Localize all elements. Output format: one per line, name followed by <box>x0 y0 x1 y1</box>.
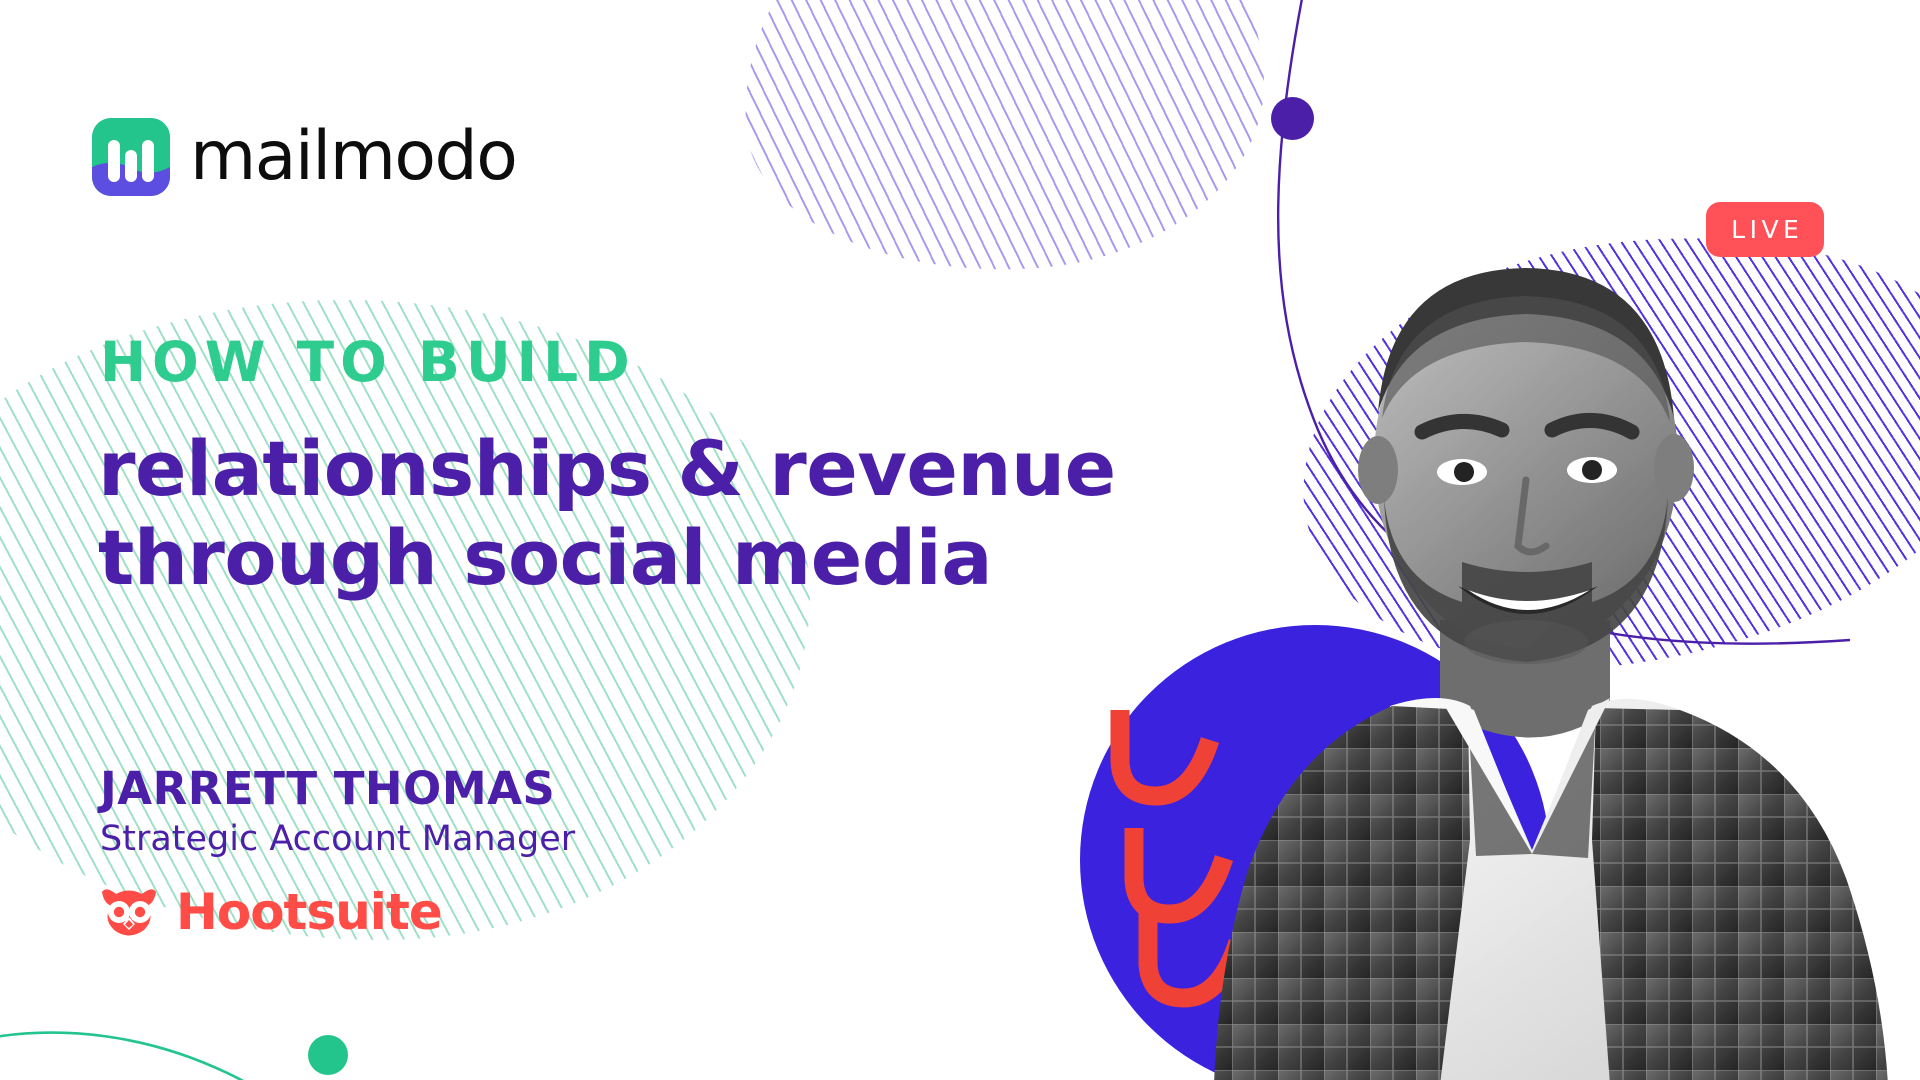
hootsuite-owl-icon <box>96 884 162 940</box>
hootsuite-logo[interactable]: Hootsuite <box>96 884 442 940</box>
mailmodo-logo-mark <box>92 118 170 196</box>
speaker-photo <box>1140 150 1920 1080</box>
mailmodo-wordmark: mailmodo <box>190 123 516 191</box>
speaker-role: Strategic Account Manager <box>100 822 575 857</box>
page-title: relationships & revenue through social m… <box>98 425 1116 603</box>
hootsuite-wordmark: Hootsuite <box>176 887 442 937</box>
purple-dot <box>1271 97 1314 140</box>
headline-line-2: through social media <box>98 514 1116 603</box>
webinar-promo-slide: LIVE mailmodo HOW TO BUILD relationships… <box>0 0 1920 1080</box>
headline-line-1: relationships & revenue <box>98 425 1116 514</box>
green-dot <box>308 1035 348 1075</box>
live-badge: LIVE <box>1706 202 1824 257</box>
eyebrow-text: HOW TO BUILD <box>100 335 636 390</box>
green-arc-line <box>0 960 470 1080</box>
mailmodo-logo[interactable]: mailmodo <box>92 118 516 196</box>
speaker-name: JARRETT THOMAS <box>100 766 555 811</box>
